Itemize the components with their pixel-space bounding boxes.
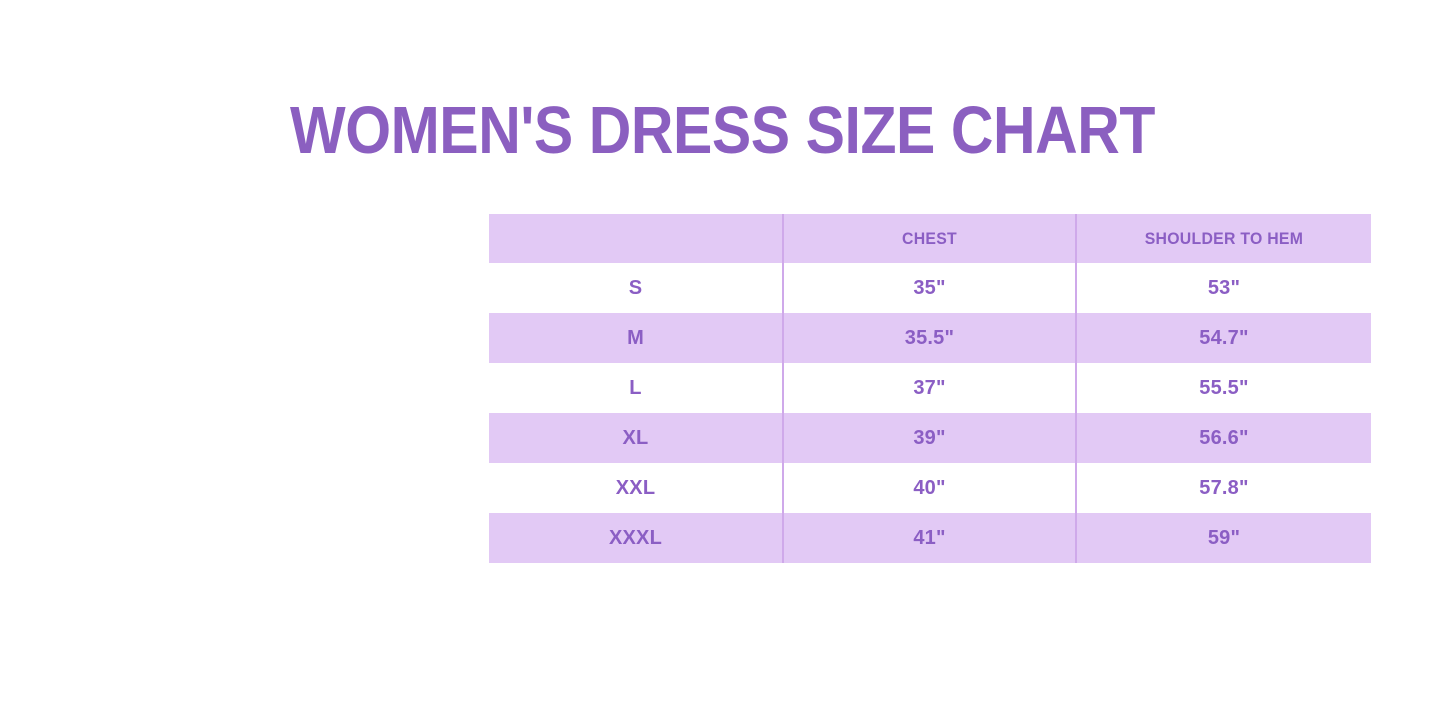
- cell-shoulder-to-hem: 59": [1076, 513, 1371, 563]
- cell-shoulder-to-hem: 54.7": [1076, 313, 1371, 363]
- table-row: M 35.5" 54.7": [489, 313, 1371, 363]
- size-chart-table: CHEST SHOULDER TO HEM S 35" 53" M 35.5" …: [489, 214, 1371, 563]
- size-chart-page: WOMEN'S DRESS SIZE CHART CHEST SHOULDER …: [0, 0, 1445, 723]
- table-row: S 35" 53": [489, 263, 1371, 313]
- cell-shoulder-to-hem: 53": [1076, 263, 1371, 313]
- cell-chest: 41": [783, 513, 1076, 563]
- cell-chest: 35.5": [783, 313, 1076, 363]
- cell-size: XXL: [489, 463, 783, 513]
- cell-shoulder-to-hem: 56.6": [1076, 413, 1371, 463]
- cell-chest: 40": [783, 463, 1076, 513]
- cell-size: M: [489, 313, 783, 363]
- page-title: WOMEN'S DRESS SIZE CHART: [87, 97, 1359, 164]
- cell-size: L: [489, 363, 783, 413]
- cell-size: XL: [489, 413, 783, 463]
- column-header-chest: CHEST: [793, 214, 1065, 263]
- column-header-shoulder-to-hem: SHOULDER TO HEM: [1086, 214, 1360, 263]
- table-row: L 37" 55.5": [489, 363, 1371, 413]
- table-header-row: CHEST SHOULDER TO HEM: [489, 214, 1371, 263]
- cell-chest: 37": [783, 363, 1076, 413]
- column-header-size: [499, 214, 772, 263]
- table-row: XXXL 41" 59": [489, 513, 1371, 563]
- table-row: XL 39" 56.6": [489, 413, 1371, 463]
- table-header: CHEST SHOULDER TO HEM: [489, 214, 1371, 263]
- cell-shoulder-to-hem: 57.8": [1076, 463, 1371, 513]
- table-row: XXL 40" 57.8": [489, 463, 1371, 513]
- cell-chest: 35": [783, 263, 1076, 313]
- cell-chest: 39": [783, 413, 1076, 463]
- cell-size: S: [489, 263, 783, 313]
- cell-size: XXXL: [489, 513, 783, 563]
- cell-shoulder-to-hem: 55.5": [1076, 363, 1371, 413]
- table-body: S 35" 53" M 35.5" 54.7" L 37" 55.5" XL 3…: [489, 263, 1371, 563]
